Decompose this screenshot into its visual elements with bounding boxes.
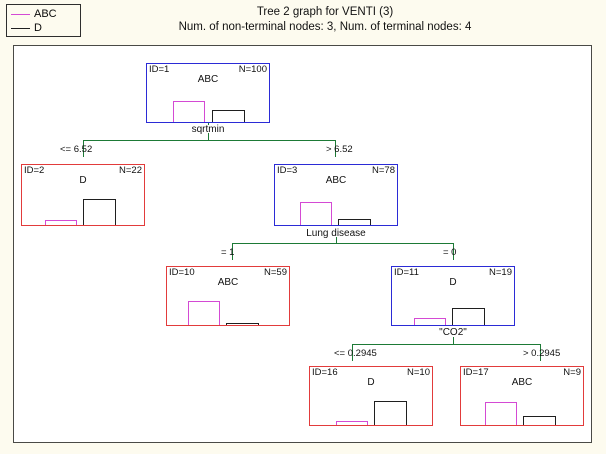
node-3-bars [275,165,397,225]
tree-node-11[interactable]: ID=11 N=19 D [391,266,515,326]
node-17-bar-abc [485,402,517,425]
node-16-bar-abc [336,421,368,425]
legend-swatch-abc [11,14,30,15]
node-2-bar-abc [45,220,77,225]
split-riser-node-3 [336,237,337,244]
edge-label-node-1-right: > 6.52 [326,144,353,155]
node-1-bar-d [212,110,245,122]
tree-node-2[interactable]: ID=2 N=22 D [21,164,145,226]
node-11-bar-abc [414,318,446,325]
edge-label-node-11-right: > 0.2945 [523,348,560,359]
legend: ABC D [6,4,81,37]
node-1-bars [147,64,269,122]
tree-node-3[interactable]: ID=3 N=78 ABC [274,164,398,226]
edge-label-node-1-left: <= 6.52 [60,144,92,155]
split-hline-node-11 [352,344,540,345]
tree-node-10[interactable]: ID=10 N=59 ABC [166,266,290,326]
title-block: Tree 2 graph for VENTI (3) Num. of non-t… [90,5,560,35]
legend-label-abc: ABC [34,9,57,20]
node-11-bars [392,267,514,325]
node-16-bar-d [374,401,407,425]
node-10-bars [167,267,289,325]
page-subtitle: Num. of non-terminal nodes: 3, Num. of t… [90,20,560,35]
node-2-bars [22,165,144,225]
node-11-bar-d [452,308,485,325]
legend-item-d: D [11,21,80,35]
edge-label-node-11-left: <= 0.2945 [334,348,377,359]
node-10-bar-d [226,323,259,325]
node-1-bar-abc [173,101,205,122]
tree-node-17[interactable]: ID=17 N=9 ABC [460,366,584,426]
edge-label-node-3-right: = 0 [443,247,456,258]
node-3-bar-d [338,219,371,225]
node-17-bars [461,367,583,425]
node-3-bar-abc [300,202,332,225]
node-10-bar-abc [188,301,220,325]
split-riser-node-11 [453,337,454,345]
split-stem-node-1 [208,123,209,125]
node-17-bar-d [523,416,556,425]
split-hline-node-3 [232,243,453,244]
legend-swatch-d [11,28,30,29]
legend-label-d: D [34,23,42,34]
page-title: Tree 2 graph for VENTI (3) [90,5,560,20]
split-hline-node-1 [83,140,335,141]
split-riser-node-1 [208,133,209,141]
tree-node-16[interactable]: ID=16 N=10 D [309,366,433,426]
tree-graph-canvas: ABC D Tree 2 graph for VENTI (3) Num. of… [0,0,606,454]
tree-node-1[interactable]: ID=1 N=100 ABC [146,63,270,123]
node-2-bar-d [83,199,116,225]
legend-item-abc: ABC [11,7,80,21]
edge-label-node-3-left: = 1 [221,247,234,258]
node-16-bars [310,367,432,425]
